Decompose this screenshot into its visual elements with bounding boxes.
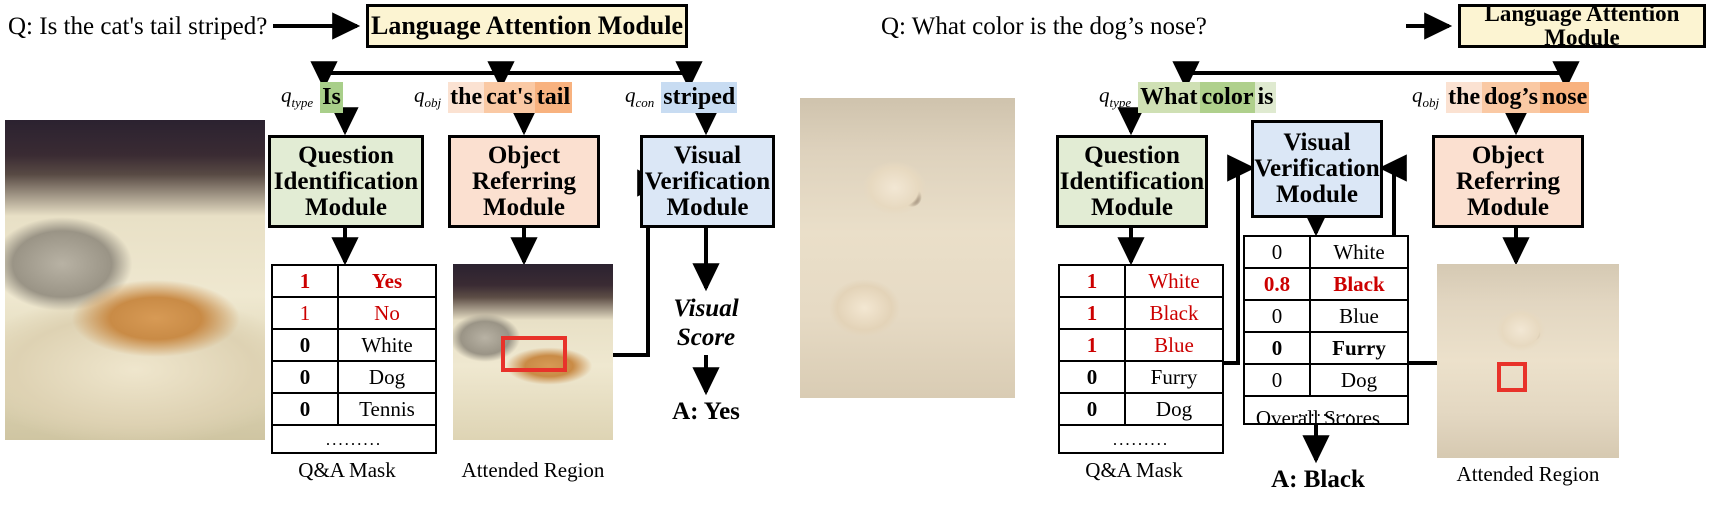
left-language-attention-module[interactable]: Language Attention Module <box>366 4 688 48</box>
right-qobj-symbol: qobj <box>1412 83 1439 111</box>
right-object-referring-module[interactable]: Object Referring Module <box>1432 135 1584 228</box>
left-qa-label-1: No <box>338 297 436 329</box>
right-orm-label: Object Referring Module <box>1456 143 1560 221</box>
right-os-score-2: 0 <box>1244 300 1310 332</box>
left-qa-score-4: 0 <box>272 393 338 425</box>
right-os-score-3: 0 <box>1244 332 1310 364</box>
left-qa-mask-caption: Q&A Mask <box>271 458 423 483</box>
left-qa-label-4: Tennis <box>338 393 436 425</box>
right-qa-label-1: Black <box>1125 297 1223 329</box>
right-qa-score-3: 0 <box>1059 361 1125 393</box>
right-token-what: What <box>1138 82 1199 113</box>
right-question-identification-module[interactable]: Question Identification Module <box>1056 135 1208 228</box>
left-token-tail: tail <box>535 82 572 113</box>
right-os-label-0: White <box>1310 236 1408 268</box>
left-qa-score-0: 1 <box>272 265 338 297</box>
left-qa-score-1: 1 <box>272 297 338 329</box>
left-language-attention-module-label: Language Attention Module <box>371 12 683 39</box>
table-row: 1 No <box>272 297 436 329</box>
table-row: 1 Blue <box>1059 329 1223 361</box>
table-row: ......... <box>1059 425 1223 453</box>
right-os-label-2: Blue <box>1310 300 1408 332</box>
right-qtype-group: qtype What color is <box>1099 82 1276 113</box>
left-qobj-symbol: qobj <box>414 83 441 111</box>
left-qtype-group: qtype Is <box>281 82 343 113</box>
right-qa-score-4: 0 <box>1059 393 1125 425</box>
left-answer: A: Yes <box>636 398 776 426</box>
left-input-image <box>5 120 265 440</box>
left-qa-label-0: Yes <box>338 265 436 297</box>
left-attended-region-image <box>453 264 613 440</box>
table-row: ......... <box>272 425 436 453</box>
left-token-the: the <box>448 82 484 113</box>
left-qa-mask-table: 1 Yes 1 No 0 White 0 Dog 0 Tennis ......… <box>271 264 437 454</box>
left-qim-label: Question Identification Module <box>274 143 418 221</box>
right-attended-region-caption: Attended Region <box>1437 462 1619 487</box>
left-visual-verification-module[interactable]: Visual Verification Module <box>640 135 775 228</box>
right-qa-mask-table: 1 White 1 Black 1 Blue 0 Furry 0 Dog ...… <box>1058 264 1224 454</box>
right-input-image <box>800 98 1015 398</box>
table-row: 0 Dog <box>272 361 436 393</box>
left-qa-ellipsis: ......... <box>272 425 436 453</box>
right-overall-scores-table: 0 White 0.8 Black 0 Blue 0 Furry 0 Dog .… <box>1243 235 1409 425</box>
right-visual-verification-module[interactable]: Visual Verification Module <box>1251 120 1383 218</box>
right-qa-score-1: 1 <box>1059 297 1125 329</box>
right-os-score-4: 0 <box>1244 364 1310 396</box>
right-qa-score-0: 1 <box>1059 265 1125 297</box>
right-token-is: is <box>1255 82 1275 113</box>
left-visual-score-label: VisualScore <box>636 295 776 353</box>
table-row: 0.8 Black <box>1244 268 1408 300</box>
left-bounding-box <box>501 336 567 372</box>
left-qa-score-3: 0 <box>272 361 338 393</box>
table-row: 0 Blue <box>1244 300 1408 332</box>
right-token-nose: nose <box>1540 82 1589 113</box>
right-os-label-1: Black <box>1310 268 1408 300</box>
right-qa-score-2: 1 <box>1059 329 1125 361</box>
left-qa-label-2: White <box>338 329 436 361</box>
right-qobj-group: qobj the dog’s nose <box>1412 82 1589 113</box>
left-qa-mask-body: 1 Yes 1 No 0 White 0 Dog 0 Tennis ......… <box>272 265 436 453</box>
right-qtype-symbol: qtype <box>1099 83 1131 111</box>
left-qcon-group: qcon striped <box>625 82 737 113</box>
table-row: 0 Tennis <box>272 393 436 425</box>
left-question-text: Q: Is the cat's tail striped? <box>8 14 267 39</box>
table-row: 0 White <box>272 329 436 361</box>
right-qa-label-0: White <box>1125 265 1223 297</box>
table-row: 1 White <box>1059 265 1223 297</box>
left-orm-label: Object Referring Module <box>472 143 576 221</box>
right-token-color: color <box>1200 82 1256 113</box>
table-row: 0 Dog <box>1244 364 1408 396</box>
left-attended-region-caption: Attended Region <box>453 458 613 483</box>
left-qa-score-2: 0 <box>272 329 338 361</box>
right-os-label-3: Furry <box>1310 332 1408 364</box>
table-row: 1 Black <box>1059 297 1223 329</box>
left-token-striped: striped <box>661 82 737 113</box>
left-qcon-symbol: qcon <box>625 83 654 111</box>
right-bounding-box <box>1497 362 1527 392</box>
right-language-attention-module-label: Language Attention Module <box>1461 2 1703 50</box>
table-row: 0 Furry <box>1059 361 1223 393</box>
right-language-attention-module[interactable]: Language Attention Module <box>1458 4 1706 48</box>
right-vvm-label: Visual Verification Module <box>1254 130 1379 208</box>
left-token-is: Is <box>320 82 343 113</box>
right-qa-label-4: Dog <box>1125 393 1223 425</box>
right-qa-label-3: Furry <box>1125 361 1223 393</box>
left-object-referring-module[interactable]: Object Referring Module <box>448 135 600 228</box>
right-overall-scores-caption: Overall Scores <box>1235 406 1401 431</box>
right-qa-mask-body: 1 White 1 Black 1 Blue 0 Furry 0 Dog ...… <box>1059 265 1223 453</box>
left-token-cats: cat's <box>484 82 535 113</box>
right-qa-label-2: Blue <box>1125 329 1223 361</box>
right-answer: A: Black <box>1235 466 1401 494</box>
left-question-identification-module[interactable]: Question Identification Module <box>268 135 424 228</box>
table-row: 0 White <box>1244 236 1408 268</box>
right-qim-label: Question Identification Module <box>1060 143 1204 221</box>
left-qa-label-3: Dog <box>338 361 436 393</box>
right-attended-region-image <box>1437 264 1619 458</box>
left-qobj-group: qobj the cat's tail <box>414 82 572 113</box>
left-vvm-label: Visual Verification Module <box>645 143 770 221</box>
left-qtype-symbol: qtype <box>281 83 313 111</box>
right-os-label-4: Dog <box>1310 364 1408 396</box>
right-os-score-0: 0 <box>1244 236 1310 268</box>
right-qa-mask-caption: Q&A Mask <box>1058 458 1210 483</box>
table-row: 0 Dog <box>1059 393 1223 425</box>
right-os-score-1: 0.8 <box>1244 268 1310 300</box>
right-question-text: Q: What color is the dog’s nose? <box>881 14 1207 39</box>
right-overall-scores-body: 0 White 0.8 Black 0 Blue 0 Furry 0 Dog .… <box>1244 236 1408 424</box>
right-token-dogs: dog’s <box>1482 82 1540 113</box>
table-row: 1 Yes <box>272 265 436 297</box>
table-row: 0 Furry <box>1244 332 1408 364</box>
right-qa-ellipsis: ......... <box>1059 425 1223 453</box>
right-token-the: the <box>1446 82 1482 113</box>
